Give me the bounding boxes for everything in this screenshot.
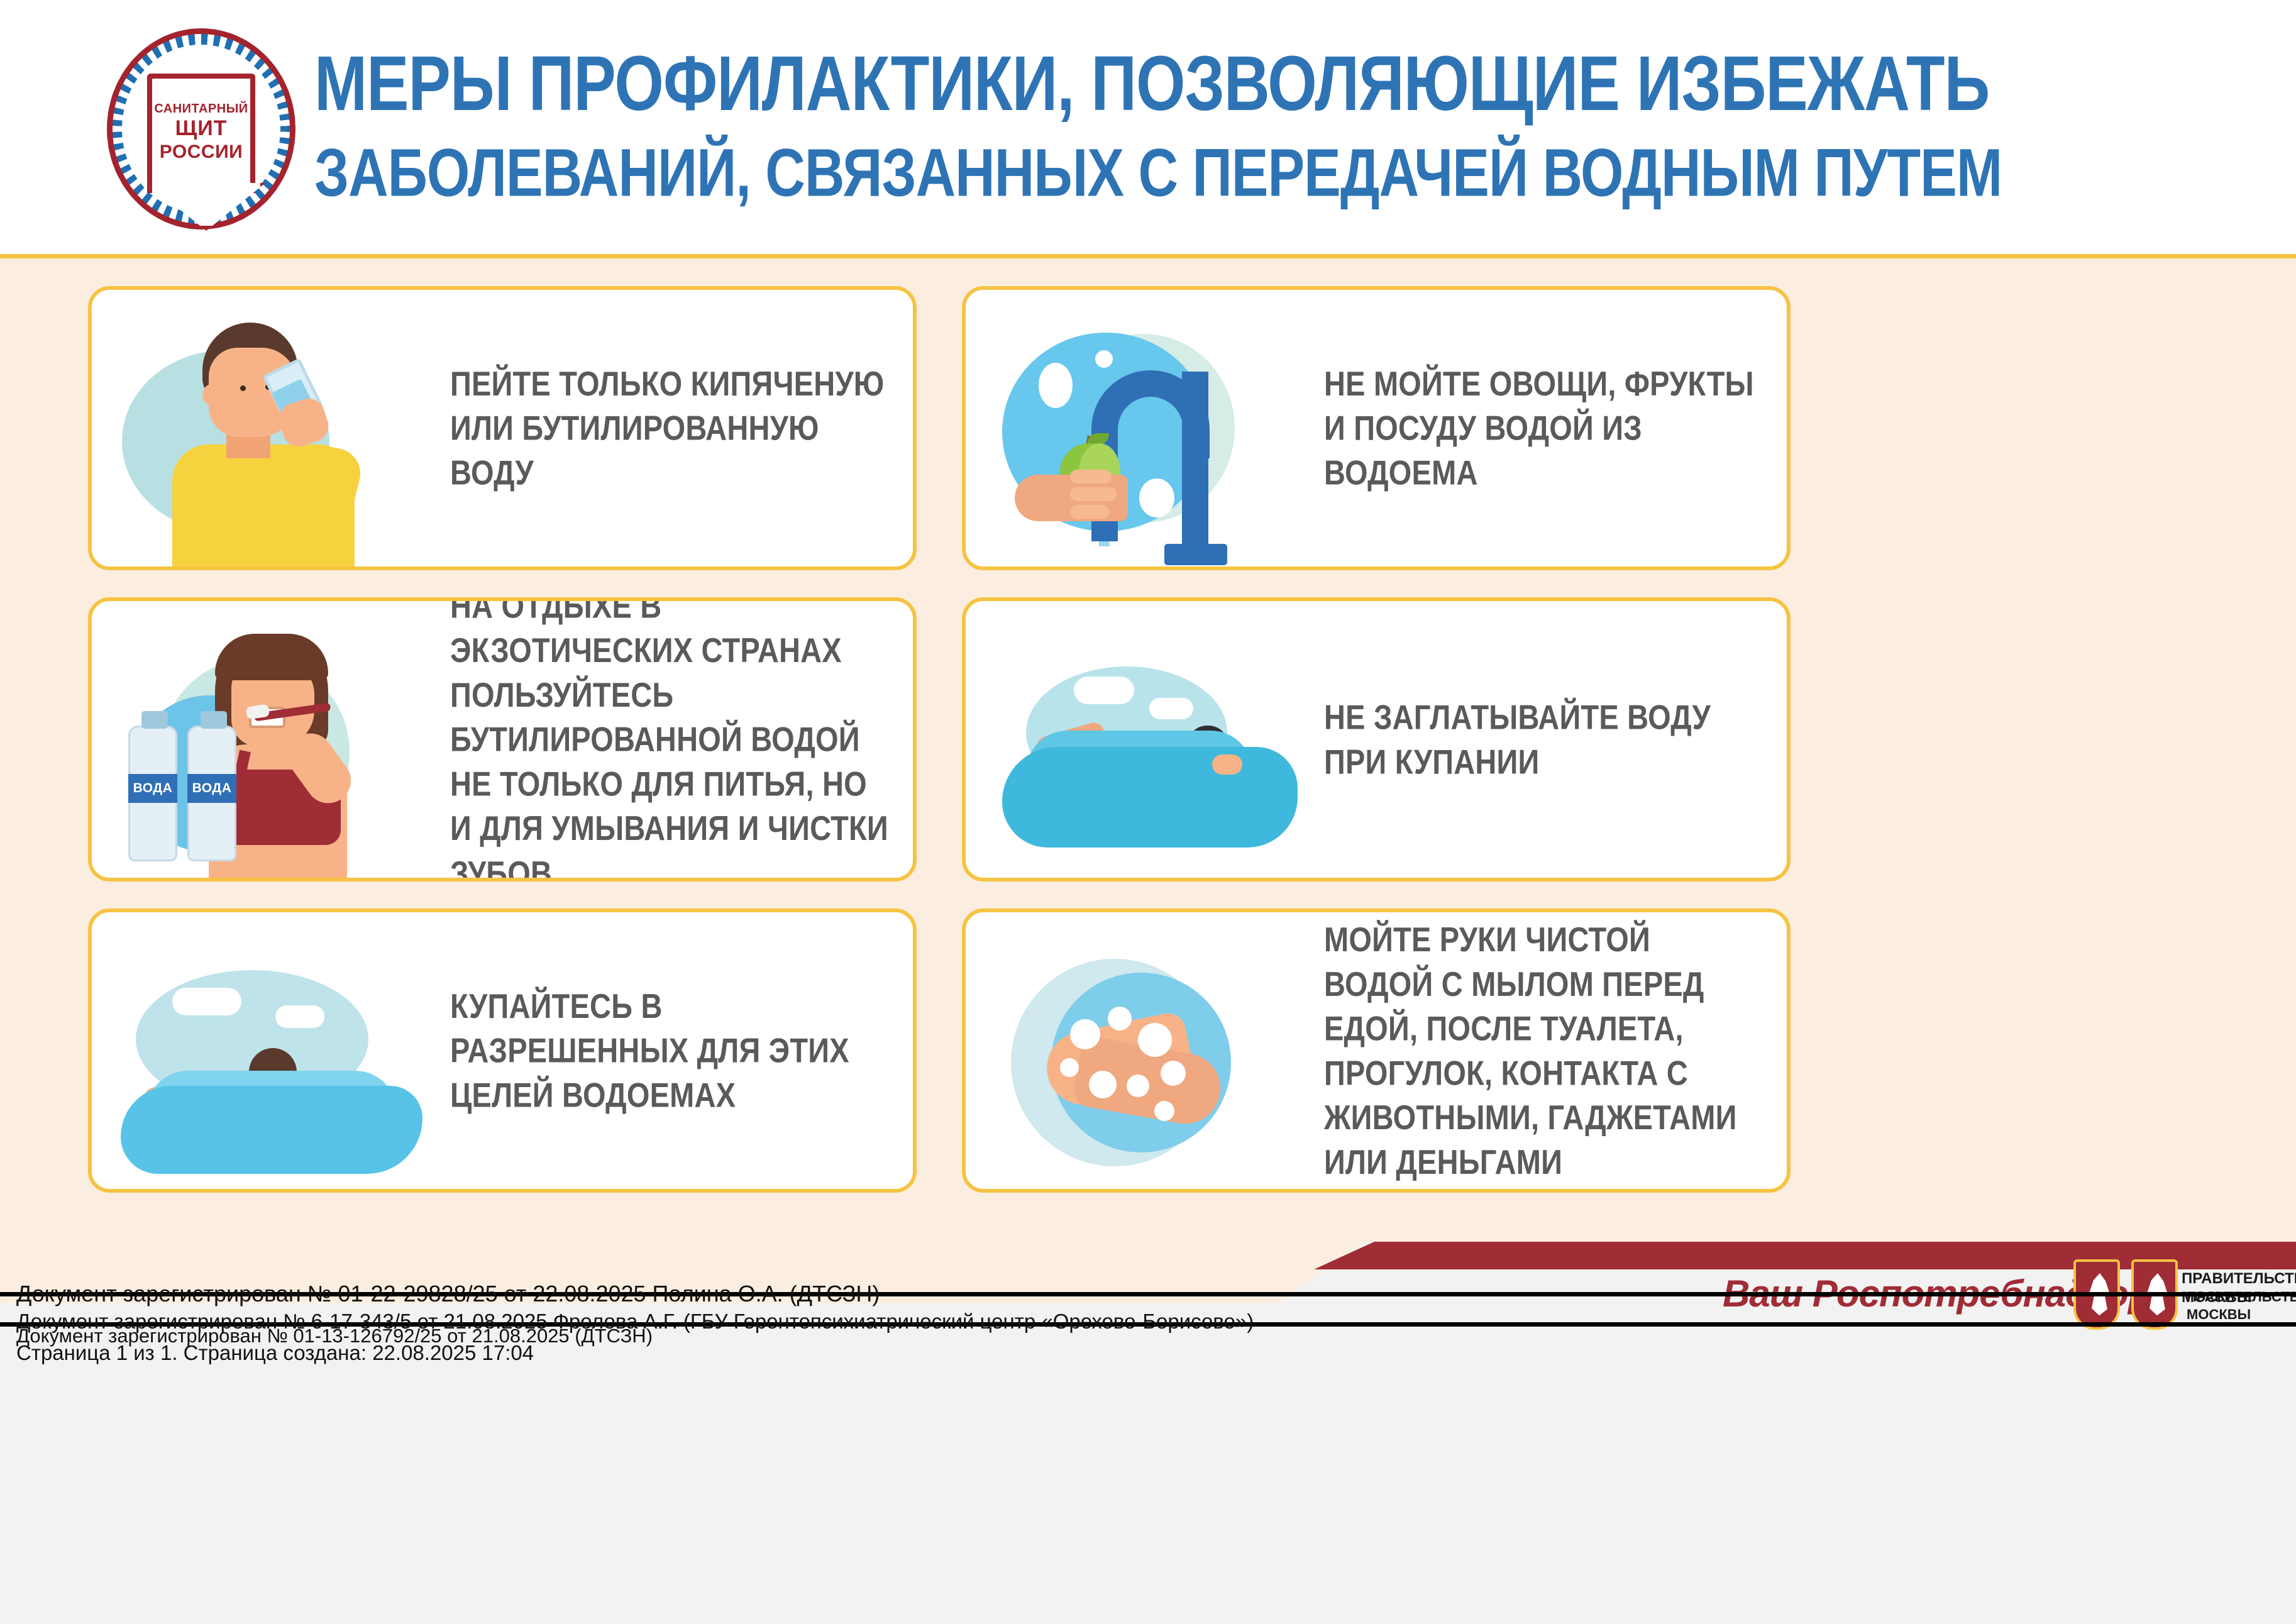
advice-card-swim-in-permitted-places: КУПАЙТЕСЬ В РАЗРЕШЕННЫХ ДЛЯ ЭТИХ ЦЕЛЕЙ В… (88, 909, 917, 1193)
water-bottle-1: ВОДА (128, 726, 177, 861)
page-header: САНИТАРНЫЙ ЩИТ РОССИИ МЕРЫ ПРОФИЛАКТИКИ,… (0, 0, 2296, 254)
swimmer-butterfly-icon (92, 912, 450, 1189)
woman-brushing-teeth-icon: ВОДА ВОДА (92, 601, 450, 878)
header-divider (0, 254, 2296, 258)
bottle-label: ВОДА (128, 774, 177, 803)
logo-line-2: ЩИТ (147, 118, 255, 140)
person-swimming-icon (966, 601, 1324, 878)
bottle-label: ВОДА (187, 774, 236, 803)
advice-card-boiled-or-bottled-water: ПЕЙТЕ ТОЛЬКО КИПЯЧЕНУЮ ИЛИ БУТИЛИРОВАННУ… (88, 286, 917, 570)
tap-washing-apple-icon (966, 290, 1324, 566)
advice-card-bottled-water-abroad: ВОДА ВОДА НА ОТДЫХЕ В ЭКЗОТИЧЕСКИХ СТРАН… (88, 597, 917, 881)
sanitary-shield-logo: САНИТАРНЫЙ ЩИТ РОССИИ (107, 28, 295, 229)
advice-card-text: КУПАЙТЕСЬ В РАЗРЕШЕННЫХ ДЛЯ ЭТИХ ЦЕЛЕЙ В… (450, 984, 913, 1118)
man-drinking-water-icon (92, 290, 450, 566)
advice-card-do-not-swallow-water: НЕ ЗАГЛАТЫВАЙТЕ ВОДУ ПРИ КУПАНИИ (962, 597, 1791, 881)
advice-card-wash-hands-with-soap: МОЙТЕ РУКИ ЧИСТОЙ ВОДОЙ С МЫЛОМ ПЕРЕД ЕД… (962, 909, 1791, 1193)
advice-card-text: НЕ МОЙТЕ ОВОЩИ, ФРУКТЫ И ПОСУДУ ВОДОЙ ИЗ… (1324, 362, 1787, 495)
gov-line-1: ПРАВИТЕЛЬСТВО (2182, 1270, 2296, 1287)
registration-line-4: Страница 1 из 1. Страница создана: 22.08… (16, 1341, 534, 1365)
advice-card-do-not-wash-with-pond-water: НЕ МОЙТЕ ОВОЩИ, ФРУКТЫ И ПОСУДУ ВОДОЙ ИЗ… (962, 286, 1791, 570)
logo-line-3: РОССИИ (147, 142, 255, 162)
gov-line-1-alt: ПРАВИТЕЛЬСТВО (2187, 1289, 2296, 1305)
hands-washing-soap-icon (966, 912, 1324, 1189)
logo-line-1: САНИТАРНЫЙ (147, 102, 255, 116)
water-bottle-2: ВОДА (187, 726, 236, 861)
advice-card-text: НА ОТДЫХЕ В ЭКЗОТИЧЕСКИХ СТРАНАХ ПОЛЬЗУЙ… (450, 597, 913, 881)
logo-text: САНИТАРНЫЙ ЩИТ РОССИИ (147, 102, 255, 162)
page-title: МЕРЫ ПРОФИЛАКТИКИ, ПОЗВОЛЯЮЩИЕ ИЗБЕЖАТЬ … (314, 44, 2251, 196)
title-line-1: МЕРЫ ПРОФИЛАКТИКИ, ПОЗВОЛЯЮЩИЕ ИЗБЕЖАТЬ (314, 44, 2251, 124)
advice-card-text: НЕ ЗАГЛАТЫВАЙТЕ ВОДУ ПРИ КУПАНИИ (1324, 695, 1787, 784)
advice-card-text: МОЙТЕ РУКИ ЧИСТОЙ ВОДОЙ С МЫЛОМ ПЕРЕД ЕД… (1324, 917, 1787, 1184)
advice-card-text: ПЕЙТЕ ТОЛЬКО КИПЯЧЕНУЮ ИЛИ БУТИЛИРОВАННУ… (450, 362, 913, 495)
gov-line-2-alt: МОСКВЫ (2187, 1306, 2251, 1322)
page-footer: Ваш Роспотребнадзор ПРАВИТЕЛЬСТВО МОСКВЫ… (0, 1242, 2296, 1624)
registration-line-1: Документ зарегистрирован № 01-22-29828/2… (16, 1281, 880, 1307)
advice-card-grid: ПЕЙТЕ ТОЛЬКО КИПЯЧЕНУЮ ИЛИ БУТИЛИРОВАННУ… (88, 286, 2213, 1217)
title-line-2: ЗАБОЛЕВАНИЙ, СВЯЗАННЫХ С ПЕРЕДАЧЕЙ ВОДНЫ… (314, 138, 2251, 208)
